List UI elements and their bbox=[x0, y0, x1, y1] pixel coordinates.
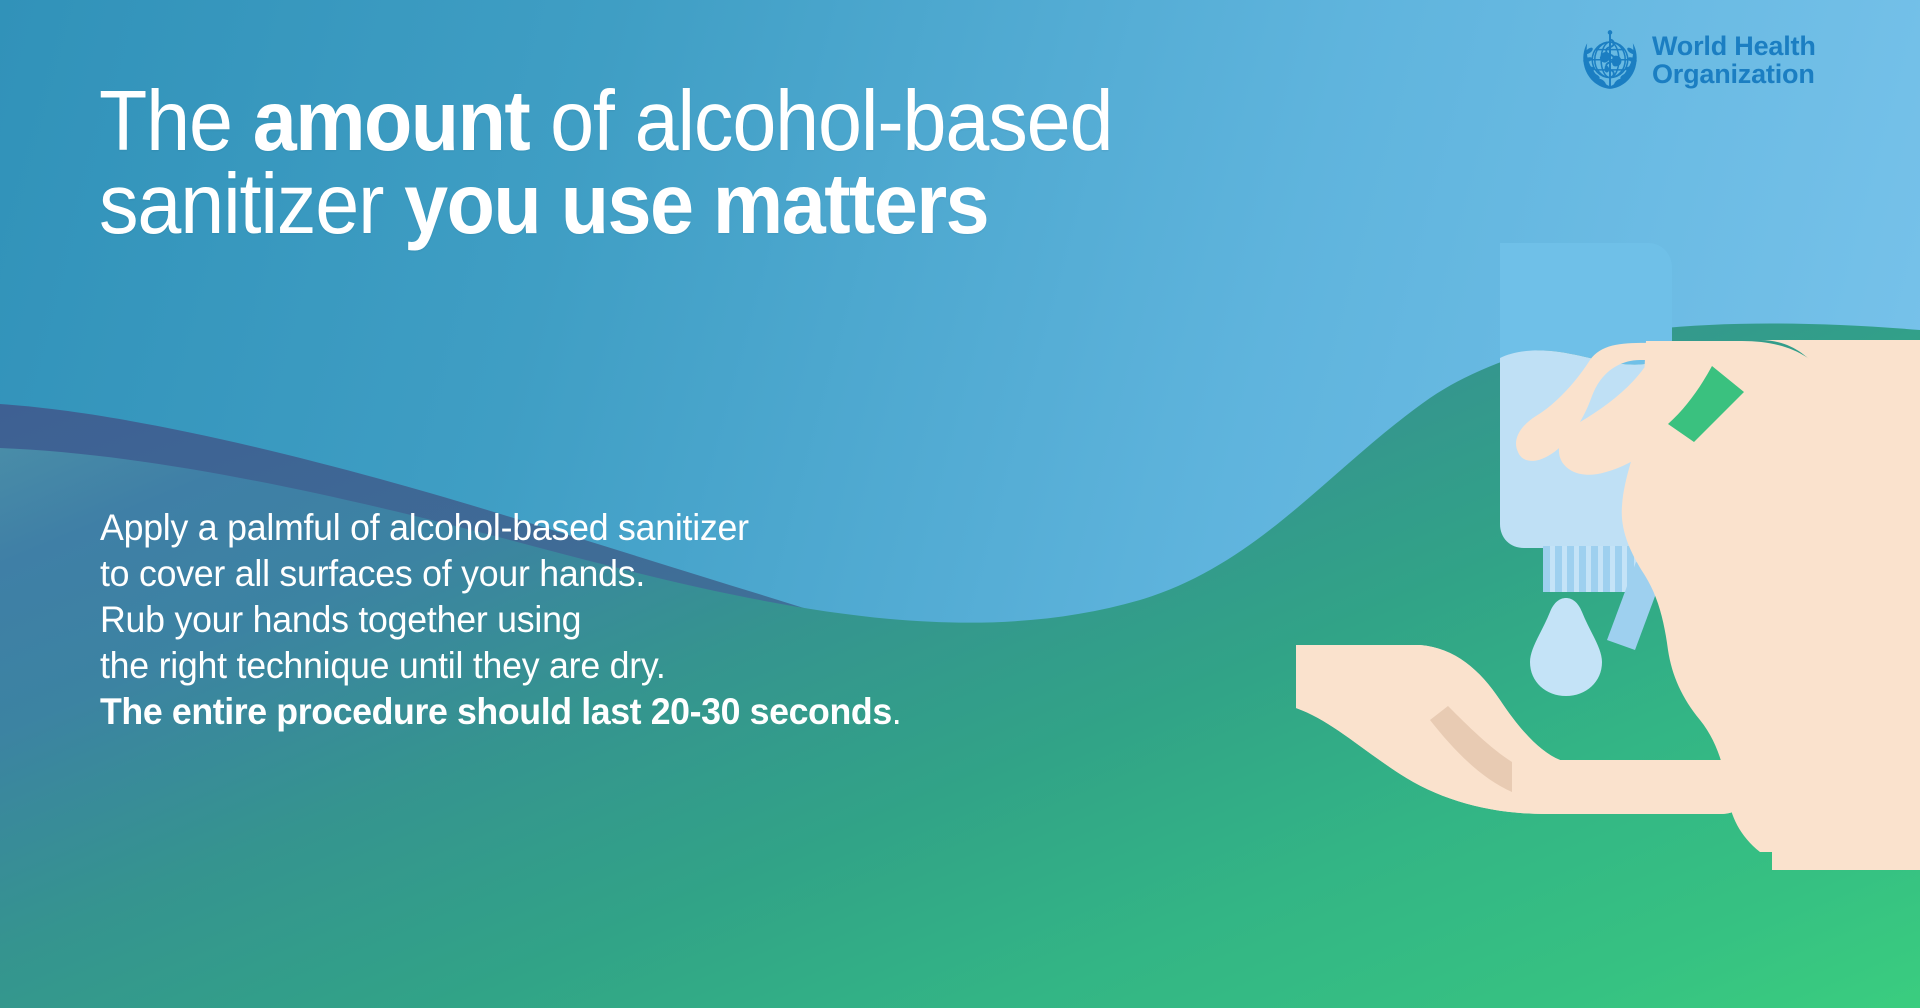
instruction-line-5-bold: The entire procedure should last 20-30 s… bbox=[100, 691, 892, 732]
who-logo-line2: Organization bbox=[1652, 61, 1816, 89]
instruction-line-3: Rub your hands together using bbox=[100, 597, 901, 643]
instruction-line-1: Apply a palmful of alcohol-based sanitiz… bbox=[100, 505, 901, 551]
headline-bold-you-use-matters: you use matters bbox=[404, 157, 988, 252]
who-emblem-icon bbox=[1578, 28, 1642, 94]
sanitizer-droplet bbox=[1530, 598, 1602, 696]
who-logo-wordmark: World Health Organization bbox=[1652, 33, 1816, 88]
headline-part-1: The bbox=[99, 74, 253, 169]
instruction-line-2: to cover all surfaces of your hands. bbox=[100, 551, 901, 597]
instruction-text: Apply a palmful of alcohol-based sanitiz… bbox=[100, 505, 901, 735]
headline-bold-amount: amount bbox=[253, 74, 530, 169]
who-hand-hygiene-poster: World Health Organization The amount of … bbox=[0, 0, 1920, 1008]
page-title: The amount of alcohol-based sanitizer yo… bbox=[99, 80, 1196, 247]
who-logo: World Health Organization bbox=[1578, 28, 1816, 94]
headline-part-2: of alcohol-based bbox=[529, 74, 1112, 169]
instruction-line-5: The entire procedure should last 20-30 s… bbox=[100, 689, 901, 735]
headline-part-3: sanitizer bbox=[99, 157, 404, 252]
instruction-line-5-period: . bbox=[892, 691, 902, 732]
instruction-line-4: the right technique until they are dry. bbox=[100, 643, 901, 689]
who-logo-line1: World Health bbox=[1652, 33, 1816, 61]
